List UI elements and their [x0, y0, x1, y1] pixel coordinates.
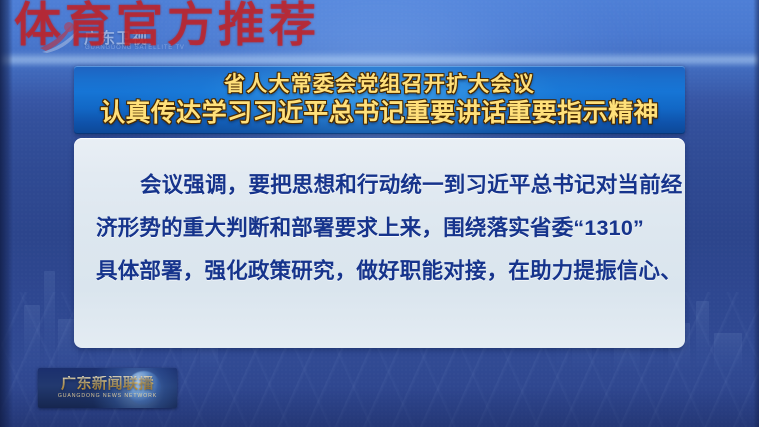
program-logo: 广东新闻联播 GUANGDONG NEWS NETWORK — [38, 368, 177, 408]
subtitle-line-1: 会议强调，要把思想和行动统一到习近平总书记对当前经 — [96, 164, 663, 207]
program-logo-name: 广东新闻联播 — [61, 376, 154, 391]
swoosh-icon — [38, 18, 86, 54]
headline-banner: 省人大常委会党组召开扩大会议 认真传达学习习近平总书记重要讲话重要指示精神 — [74, 66, 685, 134]
program-logo-subtitle: GUANGDONG NEWS NETWORK — [58, 394, 157, 399]
subtitle-line-2: 济形势的重大判断和部署要求上来，围绕落实省委“1310” — [96, 207, 663, 250]
channel-logo-subtitle: GUANGDONG SATELLITE TV — [85, 45, 185, 51]
subtitle-line-3: 具体部署，强化政策研究，做好职能对接，在助力提振信心、 — [96, 250, 663, 293]
subtitle-panel: 会议强调，要把思想和行动统一到习近平总书记对当前经 济形势的重大判断和部署要求上… — [74, 138, 685, 348]
headline-line-1: 省人大常委会党组召开扩大会议 — [224, 72, 535, 98]
channel-logo: 广东卫视 GUANGDONG SATELLITE TV — [38, 14, 170, 58]
headline-line-2: 认真传达学习习近平总书记重要讲话重要指示精神 — [100, 98, 659, 129]
tv-broadcast-frame: 广东卫视 GUANGDONG SATELLITE TV 体育官方推荐 省人大常委… — [0, 0, 759, 427]
background-right-edge-band — [753, 0, 759, 427]
background-left-edge-band — [0, 0, 13, 427]
